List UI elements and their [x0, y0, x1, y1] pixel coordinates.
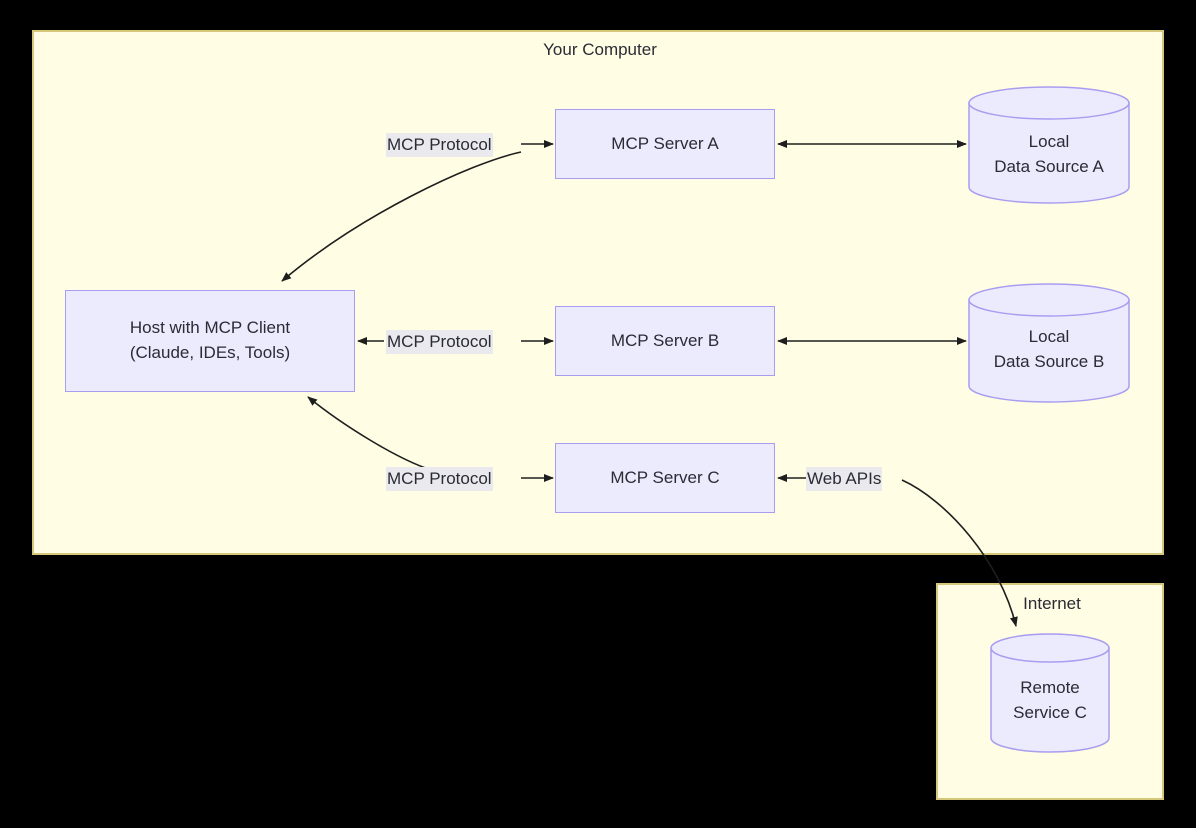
- node-mcp-server-b-label: MCP Server B: [611, 329, 719, 354]
- edge-label-mcp-protocol-b: MCP Protocol: [386, 330, 493, 354]
- zone-internet-title: Internet: [938, 594, 1166, 614]
- edge-label-web-apis: Web APIs: [806, 467, 882, 491]
- zone-your-computer-title: Your Computer: [34, 40, 1166, 60]
- cylinder-shape-b: [968, 283, 1130, 403]
- cylinder-shape-remote: [990, 633, 1110, 753]
- node-host-line1: Host with MCP Client: [130, 316, 290, 341]
- node-local-data-source-a[interactable]: Local Data Source A: [968, 86, 1130, 204]
- node-mcp-server-a-label: MCP Server A: [611, 132, 718, 157]
- edge-label-mcp-protocol-a: MCP Protocol: [386, 133, 493, 157]
- node-mcp-server-a[interactable]: MCP Server A: [555, 109, 775, 179]
- node-host-line2: (Claude, IDEs, Tools): [130, 341, 290, 366]
- edge-label-mcp-protocol-c: MCP Protocol: [386, 467, 493, 491]
- cylinder-shape-a: [968, 86, 1130, 204]
- diagram-canvas: Your Computer Internet Host with MCP Cli…: [0, 0, 1196, 828]
- node-host-with-mcp-client[interactable]: Host with MCP Client (Claude, IDEs, Tool…: [65, 290, 355, 392]
- node-mcp-server-c-label: MCP Server C: [610, 466, 719, 491]
- node-remote-service-c[interactable]: Remote Service C: [990, 633, 1110, 753]
- node-mcp-server-c[interactable]: MCP Server C: [555, 443, 775, 513]
- node-mcp-server-b[interactable]: MCP Server B: [555, 306, 775, 376]
- node-local-data-source-b[interactable]: Local Data Source B: [968, 283, 1130, 403]
